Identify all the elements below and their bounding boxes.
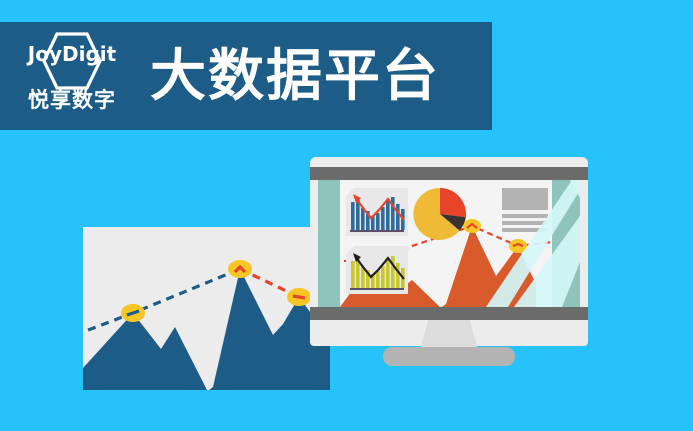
pie-chart: [412, 186, 468, 242]
bar-chart-blue: [346, 188, 408, 236]
data-point-marker: [509, 239, 527, 253]
brand-subtitle: 悦享数字: [16, 90, 128, 111]
document-block: [502, 188, 548, 228]
arrow-head: [353, 194, 361, 203]
mountain-line-chart-panel: [83, 227, 330, 390]
bar-chart-blue-card: [346, 188, 408, 236]
arrow-head: [353, 253, 361, 262]
screen-side-band-right: [552, 180, 580, 307]
brand-wordmark: JoyDigit: [16, 44, 128, 64]
mountain-silhouette: [83, 269, 330, 390]
document-thumbnail: [502, 188, 548, 210]
pie-slice-red: [440, 188, 466, 217]
dashboard-content: [340, 180, 552, 307]
document-line: [502, 228, 548, 232]
page-title: 大数据平台: [150, 48, 440, 104]
header-banner: JoyDigit 悦享数字 大数据平台: [0, 22, 492, 130]
document-line: [502, 221, 548, 225]
page-fold-corner: [346, 246, 354, 254]
desktop-monitor: [310, 157, 588, 389]
trend-line-left: [83, 269, 240, 335]
pie-chart-svg: [412, 186, 468, 242]
banner-illustration-canvas: JoyDigit 悦享数字 大数据平台: [0, 0, 693, 431]
document-line: [502, 214, 548, 218]
marker-line-seg: [293, 296, 305, 298]
monitor-screen: [318, 180, 580, 307]
screen-side-band-left: [318, 180, 340, 307]
page-fold-corner: [346, 188, 354, 196]
monitor-stand-neck: [420, 320, 478, 350]
mountain-line-chart: [83, 227, 330, 390]
monitor-stand-base: [383, 347, 515, 366]
monitor-top-bar: [310, 167, 588, 180]
bar-chart-olive-card: [346, 246, 408, 294]
monitor-bottom-bar: [310, 307, 588, 320]
bar-chart-olive: [346, 246, 408, 294]
brand-logo: JoyDigit 悦享数字: [16, 30, 128, 122]
